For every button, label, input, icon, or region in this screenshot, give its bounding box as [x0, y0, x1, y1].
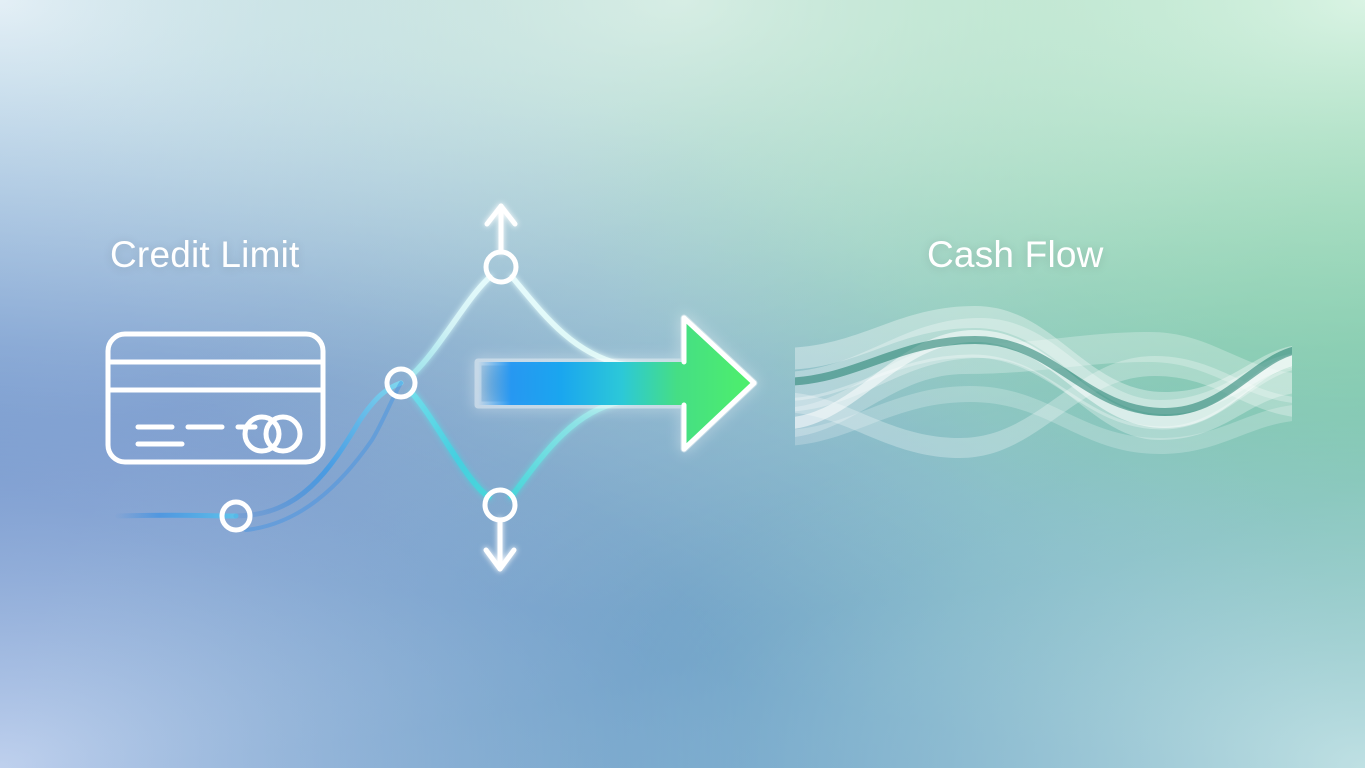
cash-flow-waves [780, 306, 1312, 458]
left-label: Credit Limit [110, 234, 300, 276]
down-arrow-indicator [486, 520, 514, 569]
credit-card-icon [108, 334, 323, 462]
illustration-canvas: Credit Limit Cash Flow [0, 0, 1365, 768]
incoming-flow-curves [118, 383, 401, 530]
transformation-arrow [478, 318, 754, 449]
flow-artwork [0, 0, 1365, 768]
decrease-node [485, 490, 515, 520]
right-label: Cash Flow [927, 234, 1104, 276]
increase-node [486, 252, 516, 282]
up-arrow-indicator [487, 206, 515, 252]
